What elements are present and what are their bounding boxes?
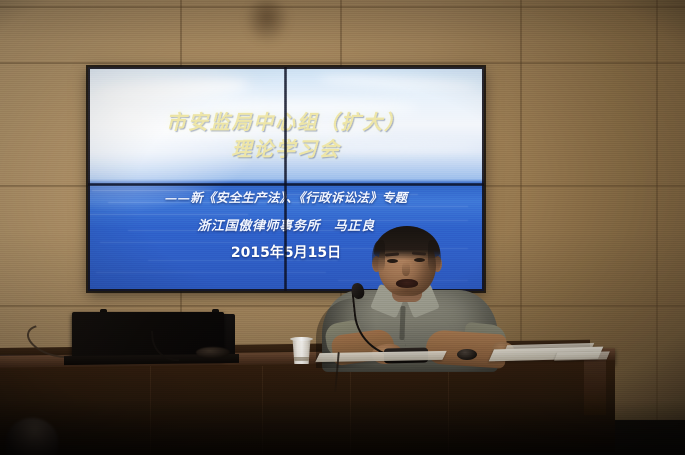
mouse[interactable] (196, 347, 230, 358)
paper-cup-band (293, 357, 310, 361)
desk-side-panel (584, 357, 606, 415)
conference-photo: 市安监局中心组（扩大） 理论学习会 ——新《安全生产法》、《行政诉讼法》专题 浙… (0, 0, 685, 455)
eye-right (414, 258, 425, 262)
speaker-hair-left (372, 240, 385, 272)
wall-smudge (244, 0, 290, 44)
speaker-hair-right (428, 240, 441, 272)
eye-left (387, 259, 398, 263)
wall-seam-horizontal (0, 62, 685, 64)
desk-object[interactable] (457, 349, 477, 360)
nose (402, 262, 410, 276)
desk-front-panel (0, 360, 615, 455)
paper-cup-rim (290, 337, 313, 341)
document-sheet[interactable] (554, 351, 610, 360)
wall-seam-horizontal (0, 6, 685, 8)
